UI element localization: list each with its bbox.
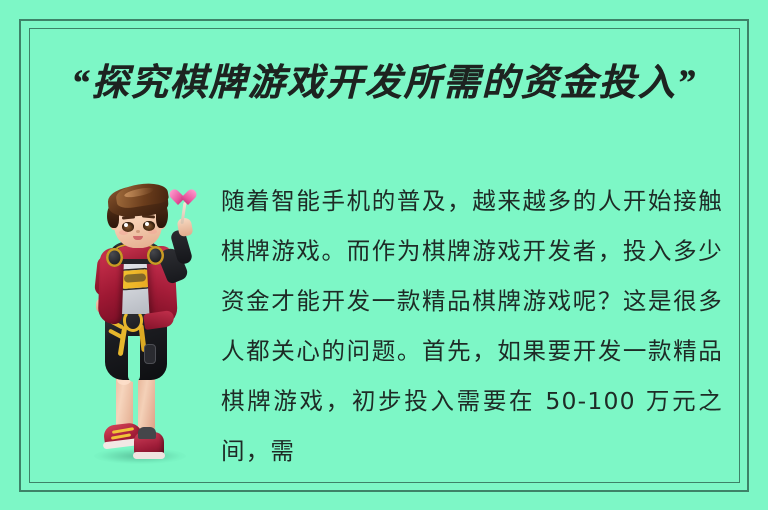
shorts-knee-panel bbox=[144, 344, 156, 364]
article-card: “探究棋牌游戏开发所需的资金投入” 随着智能手机的普及，越来越多的人开始接触棋牌… bbox=[0, 0, 768, 510]
left-eye-highlight bbox=[124, 223, 128, 227]
headphones-left-cup bbox=[106, 248, 123, 267]
article-body: 随着智能手机的普及，越来越多的人开始接触棋牌游戏。而作为棋牌游戏开发者，投入多少… bbox=[221, 176, 723, 476]
right-sneaker-sole bbox=[133, 452, 165, 459]
page-title: “探究棋牌游戏开发所需的资金投入” bbox=[0, 52, 768, 106]
headphones-right-cup bbox=[147, 246, 164, 265]
right-eye-highlight bbox=[145, 222, 149, 226]
nose bbox=[136, 230, 140, 233]
jacket-hem bbox=[143, 310, 175, 330]
shorts-inseam bbox=[128, 336, 140, 382]
character-illustration bbox=[78, 186, 202, 468]
heart-lollipop-icon bbox=[175, 190, 192, 206]
right-sneaker-collar bbox=[138, 427, 156, 439]
right-hand bbox=[177, 217, 194, 237]
t-shirt-graphic-detail bbox=[124, 273, 147, 283]
